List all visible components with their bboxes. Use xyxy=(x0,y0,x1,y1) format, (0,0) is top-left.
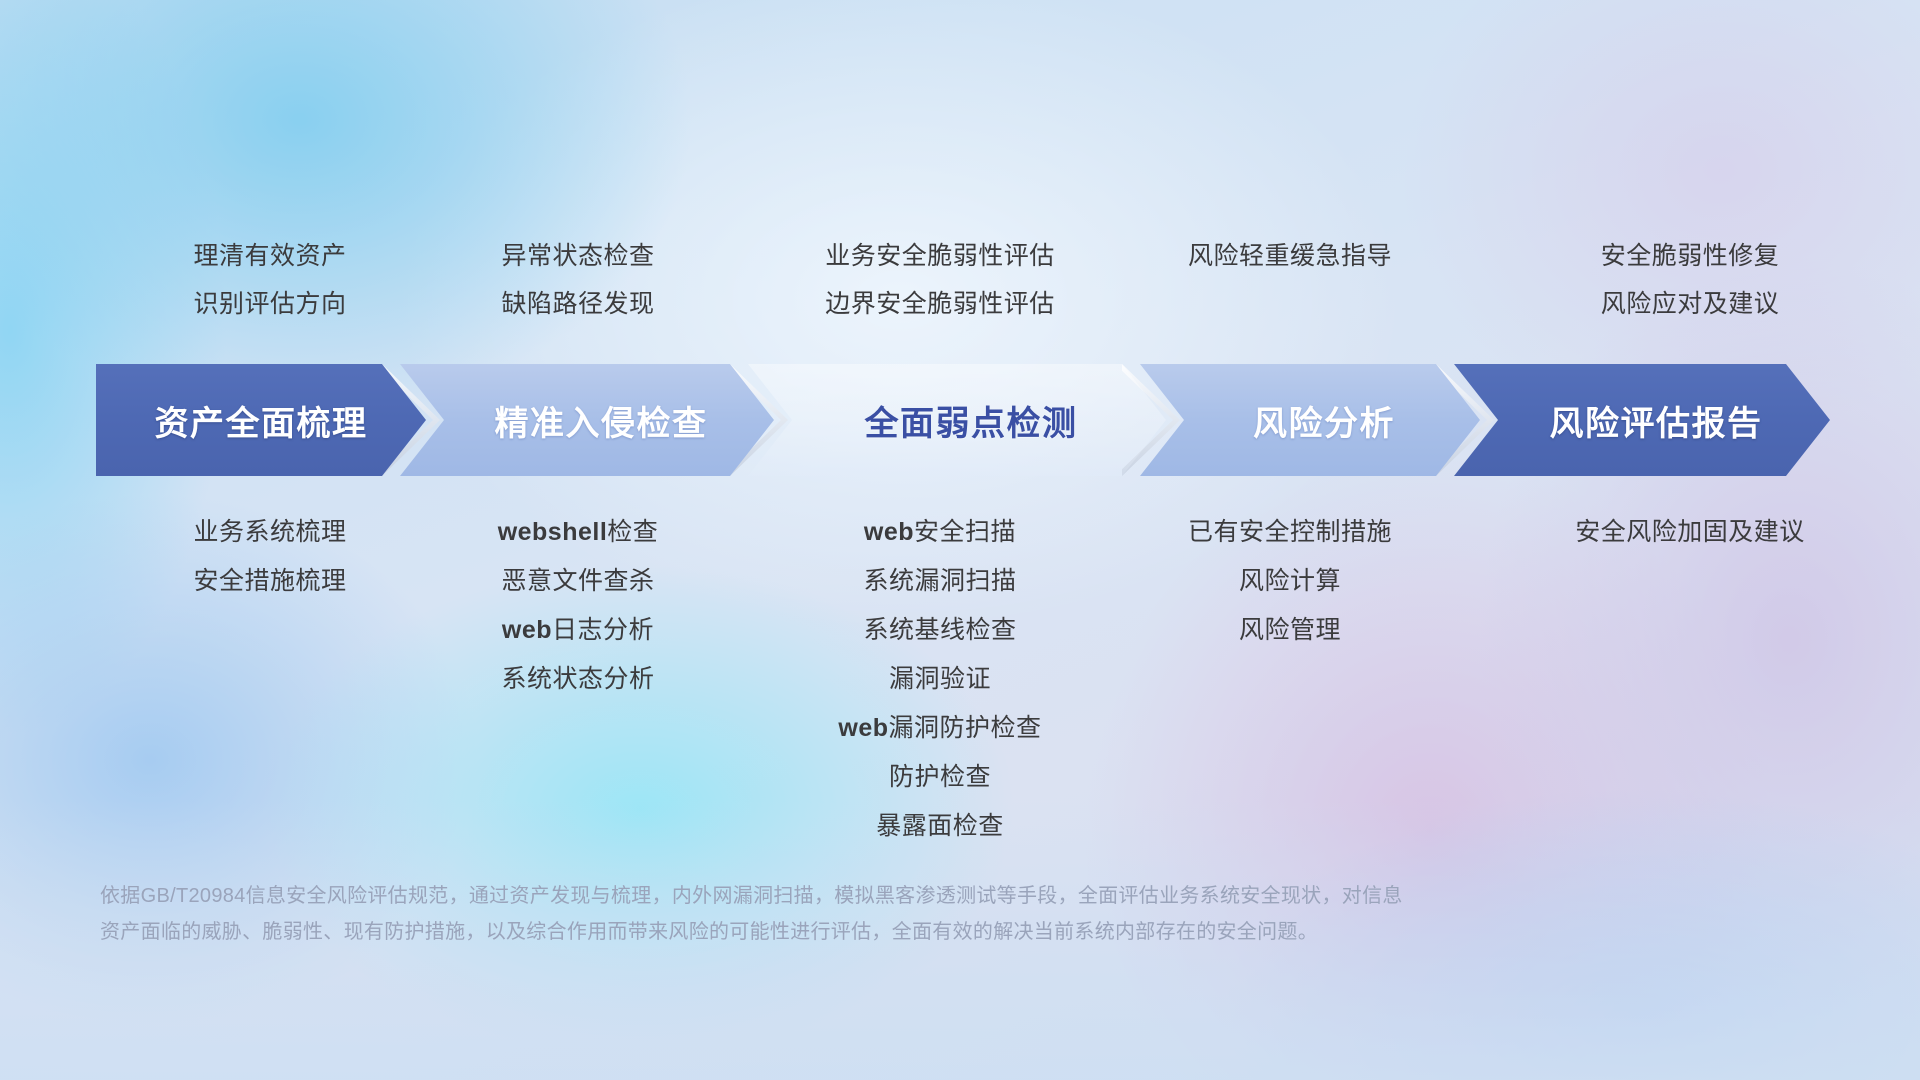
output-item: 恶意文件查杀 xyxy=(408,557,748,606)
stage-title: 全面弱点检测 xyxy=(865,396,1078,445)
output-item: 暴露面检查 xyxy=(760,802,1120,851)
stage-title: 风险评估报告 xyxy=(1550,396,1763,445)
output-item: 系统基线检查 xyxy=(760,606,1120,655)
stage-outputs-intrusion-check: webshell检查 恶意文件查杀 web日志分析 系统状态分析 xyxy=(408,508,748,704)
input-item: 业务安全脆弱性评估 xyxy=(760,232,1120,280)
stage-outputs-risk-report: 安全风险加固及建议 xyxy=(1500,508,1880,557)
process-arrow-band: 资产全面梳理 精准入侵检查 全面弱点检测 风险分析 风险评估报告 xyxy=(0,364,1920,476)
description-footer: 依据GB/T20984信息安全风险评估规范，通过资产发现与梳理，内外网漏洞扫描，… xyxy=(100,878,1660,950)
output-item: 风险管理 xyxy=(1115,606,1465,655)
output-item: 风险计算 xyxy=(1115,557,1465,606)
output-item: web漏洞防护检查 xyxy=(760,704,1120,753)
stage-inputs-intrusion-check: 异常状态检查 缺陷路径发现 xyxy=(408,232,748,328)
stage-title: 资产全面梳理 xyxy=(155,396,368,445)
footer-line: 资产面临的威胁、脆弱性、现有防护措施，以及综合作用而带来风险的可能性进行评估，全… xyxy=(100,914,1660,950)
stage-inputs-weakness-detection: 业务安全脆弱性评估 边界安全脆弱性评估 xyxy=(760,232,1120,328)
stage-title: 风险分析 xyxy=(1253,396,1395,445)
stage-inputs-risk-report: 安全脆弱性修复 风险应对及建议 xyxy=(1500,232,1880,328)
stage-outputs-weakness-detection: web安全扫描 系统漏洞扫描 系统基线检查 漏洞验证 web漏洞防护检查 防护检… xyxy=(760,508,1120,851)
stage-arrow-asset-inventory[interactable]: 资产全面梳理 xyxy=(96,364,426,476)
output-item: web安全扫描 xyxy=(760,508,1120,557)
input-item: 风险应对及建议 xyxy=(1500,280,1880,328)
output-item: 安全风险加固及建议 xyxy=(1500,508,1880,557)
output-item: 防护检查 xyxy=(760,753,1120,802)
input-item: 安全脆弱性修复 xyxy=(1500,232,1880,280)
stage-title: 精准入侵检查 xyxy=(495,396,708,445)
input-item: 边界安全脆弱性评估 xyxy=(760,280,1120,328)
input-item: 风险轻重缓急指导 xyxy=(1115,232,1465,280)
stage-outputs-risk-analysis: 已有安全控制措施 风险计算 风险管理 xyxy=(1115,508,1465,655)
output-item: web日志分析 xyxy=(408,606,748,655)
output-item: webshell检查 xyxy=(408,508,748,557)
footer-line: 依据GB/T20984信息安全风险评估规范，通过资产发现与梳理，内外网漏洞扫描，… xyxy=(100,878,1660,914)
process-diagram: 理清有效资产 识别评估方向 异常状态检查 缺陷路径发现 业务安全脆弱性评估 边界… xyxy=(0,0,1920,1080)
input-item: 缺陷路径发现 xyxy=(408,280,748,328)
stage-arrow-risk-report[interactable]: 风险评估报告 xyxy=(1454,364,1830,476)
output-item: 系统漏洞扫描 xyxy=(760,557,1120,606)
output-item: 系统状态分析 xyxy=(408,655,748,704)
output-item: 漏洞验证 xyxy=(760,655,1120,704)
stage-inputs-risk-analysis: 风险轻重缓急指导 xyxy=(1115,232,1465,280)
stage-arrow-weakness-detection[interactable]: 全面弱点检测 xyxy=(748,364,1166,476)
stage-arrow-risk-analysis[interactable]: 风险分析 xyxy=(1140,364,1480,476)
stage-arrow-intrusion-check[interactable]: 精准入侵检查 xyxy=(400,364,774,476)
output-item: 已有安全控制措施 xyxy=(1115,508,1465,557)
input-item: 异常状态检查 xyxy=(408,232,748,280)
